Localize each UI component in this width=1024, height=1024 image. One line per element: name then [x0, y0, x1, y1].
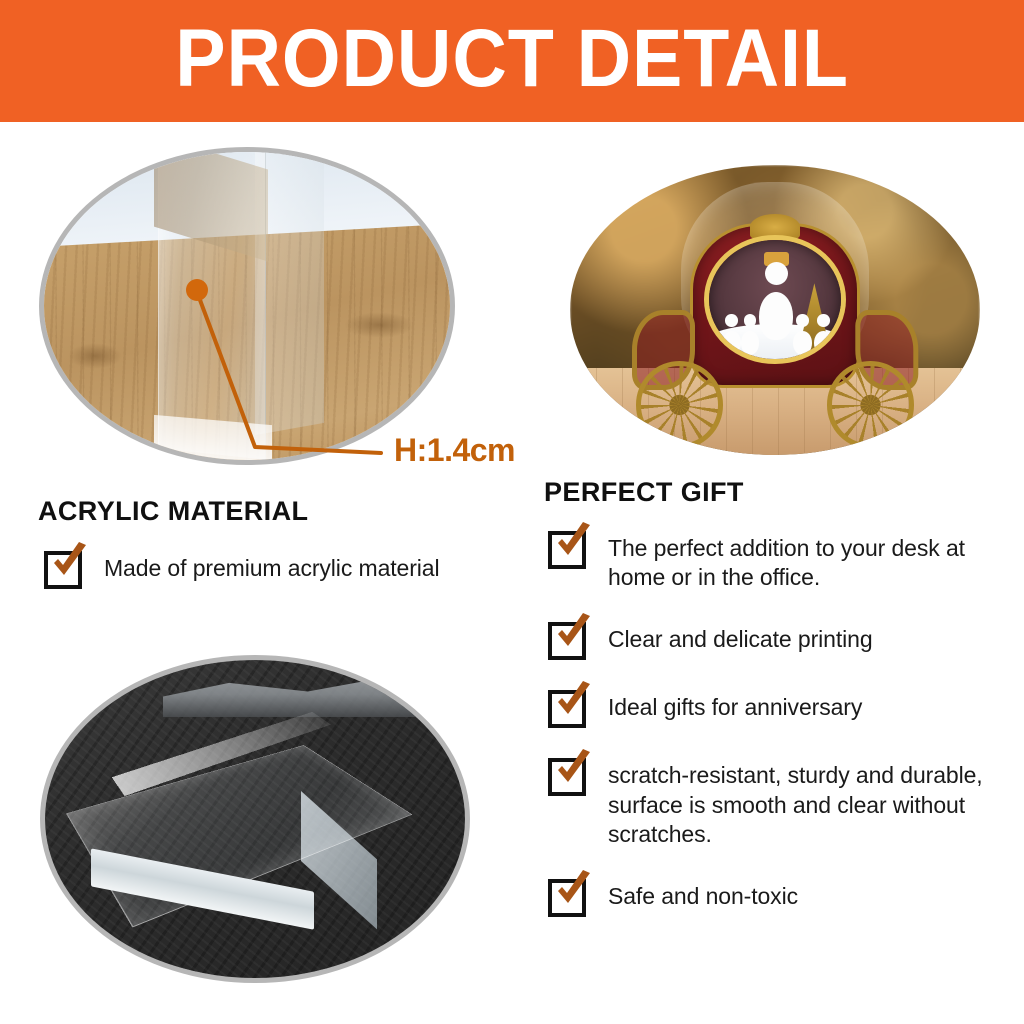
snowman-head [817, 314, 829, 326]
checkbox-checked-icon [548, 752, 592, 796]
list-item: Safe and non-toxic [548, 873, 1008, 917]
list-item-text: Ideal gifts for anniversary [608, 684, 862, 722]
list-item: Ideal gifts for anniversary [548, 684, 1008, 728]
page-title: PRODUCT DETAIL [175, 18, 849, 100]
feature-list-acrylic-material: Made of premium acrylic material [44, 545, 514, 613]
snowman-body [793, 331, 811, 354]
carriage-wheel-right [827, 361, 915, 449]
checkmark-icon [550, 869, 594, 913]
list-item-text: Safe and non-toxic [608, 873, 798, 911]
dimension-label-height: H:1.4cm [394, 432, 515, 469]
list-item-text: scratch-resistant, sturdy and durable, s… [608, 752, 1008, 849]
checkmark-icon [550, 521, 594, 565]
snowman-head [796, 314, 808, 326]
snowman-small [723, 314, 741, 354]
checkbox-checked-icon [44, 545, 88, 589]
snowman-large [759, 262, 793, 340]
snowman-small [814, 314, 832, 354]
list-item-text: The perfect addition to your desk at hom… [608, 525, 1008, 592]
feature-list-perfect-gift: The perfect addition to your desk at hom… [548, 525, 1008, 941]
list-item: Clear and delicate printing [548, 616, 1008, 660]
wood-knot [68, 343, 122, 369]
list-item: The perfect addition to your desk at hom… [548, 525, 1008, 592]
snow-globe-window [709, 240, 840, 359]
snowman-body [741, 331, 759, 354]
carriage-crown-ornament [750, 214, 799, 240]
list-item-text: Clear and delicate printing [608, 616, 873, 654]
list-item: scratch-resistant, sturdy and durable, s… [548, 752, 1008, 849]
list-item-text: Made of premium acrylic material [104, 545, 440, 583]
checkmark-icon [550, 680, 594, 724]
header-banner: PRODUCT DETAIL [0, 0, 1024, 122]
checkmark-icon [550, 612, 594, 656]
photo-acrylic-edge-on-wood-table [44, 152, 450, 460]
callout-anchor-dot [186, 279, 208, 301]
checkbox-checked-icon [548, 616, 592, 660]
checkmark-icon [46, 541, 90, 585]
photo-acrylic-block-on-slate [45, 660, 465, 978]
snowman-small [793, 314, 811, 354]
carriage-wheel-left [636, 361, 724, 449]
section-heading-perfect-gift: PERFECT GIFT [544, 477, 744, 508]
list-item: Made of premium acrylic material [44, 545, 514, 589]
photo-inner [45, 660, 465, 978]
snowman-small [741, 314, 759, 354]
checkmark-icon [550, 748, 594, 792]
section-heading-acrylic-material: ACRYLIC MATERIAL [38, 496, 308, 527]
snowman-body [759, 292, 793, 341]
snowman-head [744, 314, 756, 326]
photo-inner [570, 165, 980, 455]
photo-snow-globe-carriage [570, 165, 980, 455]
snowman-body [814, 331, 832, 354]
checkbox-checked-icon [548, 873, 592, 917]
checkbox-checked-icon [548, 525, 592, 569]
checkbox-checked-icon [548, 684, 592, 728]
snowman-head [765, 262, 788, 285]
snowman-head [725, 314, 737, 326]
snowman-body [723, 331, 741, 354]
photo-inner [44, 152, 450, 460]
